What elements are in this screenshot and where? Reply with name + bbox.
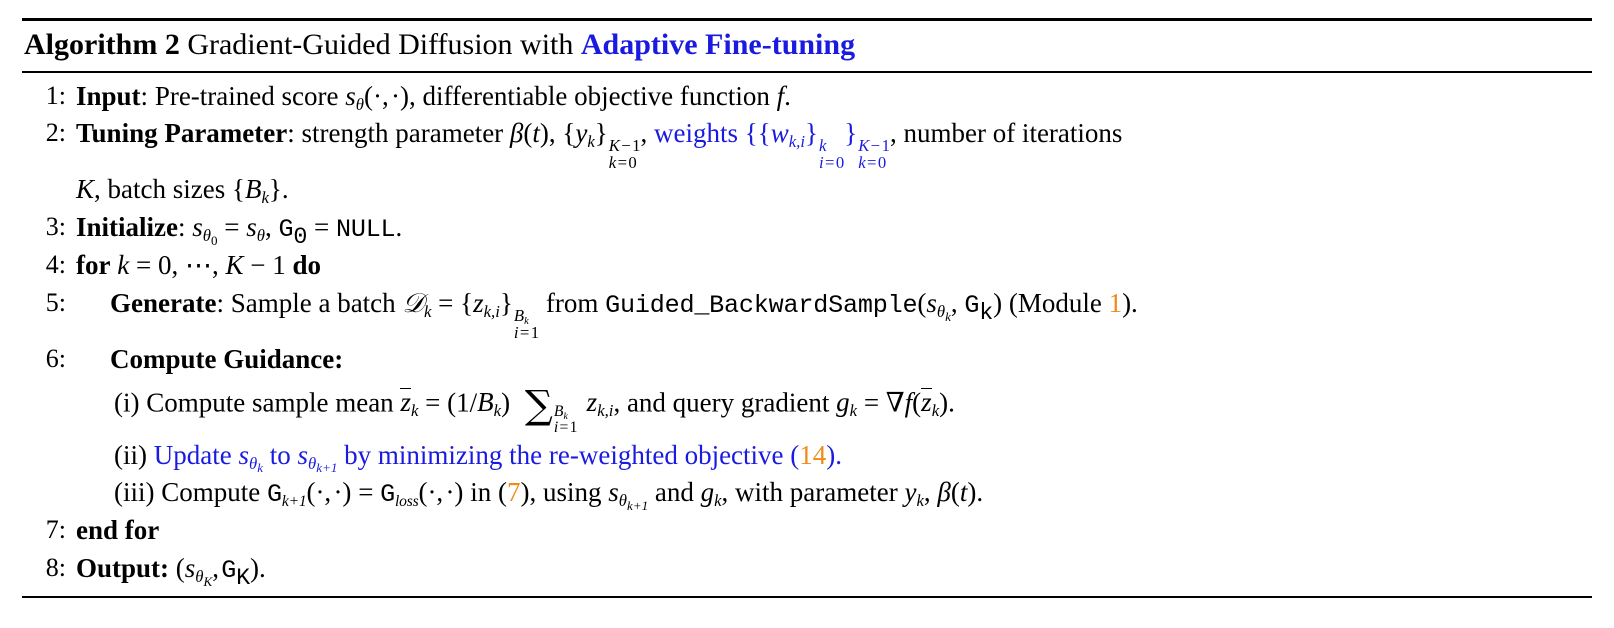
algorithm-line-3: 3: Initialize: sθ0 = sθ, G0 = NULL:. xyxy=(22,209,1592,247)
equals-iii: = xyxy=(358,477,373,507)
math-score-s: sθ xyxy=(345,81,364,111)
line-number-3: 3: xyxy=(22,209,76,245)
line-content-2-cont: K, batch sizes {Bk}. xyxy=(76,171,1592,209)
line-content-4: for k = 0, ⋯, K − 1 do xyxy=(76,247,1592,285)
substep-iii-ref-number: 7 xyxy=(507,477,521,507)
substep-i-pre: Compute sample mean xyxy=(146,387,393,417)
line-number-2: 2: xyxy=(22,115,76,151)
colon-1: : xyxy=(141,81,149,111)
algorithm-line-7: 7: end for xyxy=(22,512,1592,550)
substep-iii-ref-close: ), xyxy=(520,477,536,507)
algorithm-number: 2 xyxy=(165,28,180,61)
math-K: K xyxy=(76,174,94,204)
math-K-4: K xyxy=(225,250,243,280)
tuning-parameter-label: Tuning Parameter xyxy=(76,118,287,148)
substep-iii-end: . xyxy=(976,477,983,507)
line-number-6: 6: xyxy=(22,341,76,377)
line-content-6: Compute Guidance: xyxy=(76,341,1592,379)
for-keyword: for xyxy=(76,250,110,280)
substep-iii-with: , with parameter xyxy=(722,477,898,507)
math-G-loss: Gloss xyxy=(380,480,418,509)
substep-iii-and: and xyxy=(655,477,694,507)
substep-ii-by: by minimizing the re-weighted objective xyxy=(344,440,783,470)
tuning-text-pre: strength parameter xyxy=(302,118,504,148)
null-token: NULL xyxy=(336,215,395,244)
algorithm-line-8: 8: Output: (sθK, GK). xyxy=(22,550,1592,588)
math-one: 1 xyxy=(272,250,286,280)
equals-i: = xyxy=(425,387,440,417)
math-batch-set: {Bk} xyxy=(232,174,282,204)
substep-i-end: . xyxy=(948,387,955,417)
algorithm-line-5: 5: Generate: Sample a batch 𝒟k = {zk,i}B… xyxy=(22,285,1592,341)
line-content-2: Tuning Parameter: strength parameter β(t… xyxy=(76,115,1592,171)
algorithm-block: Algorithm 2 Gradient-Guided Diffusion wi… xyxy=(22,18,1592,598)
math-f-arg: ( xyxy=(912,387,921,417)
math-output-tuple: (sθK, GK) xyxy=(176,553,259,583)
line-content-sub-iii: (iii) Compute Gk+1(·, ·) = Gloss(·, ·) i… xyxy=(76,474,1592,512)
math-z-ki: zk,i xyxy=(587,387,614,417)
math-G-loss-args: (·, ·) xyxy=(418,477,463,507)
nabla-icon: ∇ xyxy=(886,387,905,417)
line-content-3: Initialize: sθ0 = sθ, G0 = NULL:. xyxy=(76,209,1592,247)
line-content-sub-ii: (ii) Update sθk to sθk+1 by minimizing t… xyxy=(76,437,1592,475)
line-number-8: 8: xyxy=(22,550,76,586)
substep-iii-in: in xyxy=(470,477,491,507)
algorithm-body: 1: Input: Pre-trained score sθ(·, ·), di… xyxy=(22,73,1592,597)
generate-from: from xyxy=(546,288,598,318)
equals-5: = xyxy=(438,288,453,318)
substep-iii-ref-open: ( xyxy=(498,477,507,507)
substep-iii-marker: (iii) xyxy=(114,477,155,507)
math-one-over-Bk: (1/Bk) xyxy=(447,387,510,417)
math-s-theta-k1-ii: sθk+1 xyxy=(298,440,338,470)
algorithm-keyword: Algorithm xyxy=(24,28,157,61)
line-content-1: Input: Pre-trained score sθ(·, ·), diffe… xyxy=(76,78,1592,116)
equals-2: = xyxy=(314,212,329,242)
math-s-theta-k-ii: sθk xyxy=(238,440,263,470)
tuning-end: . xyxy=(282,174,289,204)
math-f-arg-close: ) xyxy=(939,387,948,417)
colon-5: : xyxy=(216,288,224,318)
math-zbar-k: zk xyxy=(400,387,418,417)
math-beta-arg-iii: ( xyxy=(951,477,960,507)
comma-after-y: , xyxy=(641,118,648,148)
input-text-post: , differentiable objective function xyxy=(409,81,770,111)
substep-ii-ref-close: ). xyxy=(826,440,842,470)
substep-i-marker: (i) xyxy=(114,387,139,417)
math-zero: 0, xyxy=(158,250,178,280)
algorithm-line-6: 6: Compute Guidance: xyxy=(22,341,1592,379)
generate-label: Generate xyxy=(110,288,216,318)
tuning-batch-sizes: , batch sizes xyxy=(94,174,225,204)
math-G-k: Gk xyxy=(964,291,993,320)
math-dot-args-1: (·, ·) xyxy=(364,81,409,111)
substep-iii-using: using xyxy=(543,477,602,507)
algorithm-title-plain: Gradient-Guided Diffusion with xyxy=(187,28,573,61)
line-content-5: Generate: Sample a batch 𝒟k = {zk,i}Bki … xyxy=(76,285,1592,341)
math-g-k-iii: gk xyxy=(701,477,722,507)
algorithm-line-4: 4: for k = 0, ⋯, K − 1 do xyxy=(22,247,1592,285)
math-s-theta-k1-iii: sθk+1 xyxy=(608,477,648,507)
comma-iii: , xyxy=(924,477,931,507)
do-keyword: do xyxy=(292,250,321,280)
output-label: Output: xyxy=(76,553,169,583)
algorithm-line-1: 1: Input: Pre-trained score sθ(·, ·), di… xyxy=(22,78,1592,116)
algorithm-line-2: 2: Tuning Parameter: strength parameter … xyxy=(22,115,1592,171)
input-text-pre: Pre-trained score xyxy=(155,81,339,111)
math-s-theta0: sθ0 xyxy=(192,212,217,242)
line-number-5: 5: xyxy=(22,285,76,321)
equals-1: = xyxy=(224,212,239,242)
end-for-keyword: end for xyxy=(76,515,159,545)
input-label: Input xyxy=(76,81,141,111)
math-beta-iii: β xyxy=(937,477,950,507)
equals-i2: = xyxy=(864,387,879,417)
math-g-k: gk xyxy=(836,387,857,417)
math-z-set: {zk,i}Bki = 1 xyxy=(460,288,539,318)
initialize-label: Initialize xyxy=(76,212,178,242)
algorithm-substep-ii: (ii) Update sθk to sθk+1 by minimizing t… xyxy=(22,437,1592,475)
math-G0: G0 xyxy=(279,215,308,244)
substep-ii-update: Update xyxy=(154,440,232,470)
math-weights-set: {{wk,i}ki = 0}K − 1k = 0 xyxy=(745,118,890,148)
comma-3: , xyxy=(265,212,272,242)
line-number-4: 4: xyxy=(22,247,76,283)
algorithm-title: Algorithm 2 Gradient-Guided Diffusion wi… xyxy=(22,21,1592,71)
math-dots: ⋯ xyxy=(185,250,212,280)
math-beta-close-iii: ) xyxy=(967,477,976,507)
compute-guidance-label: Compute Guidance: xyxy=(110,344,343,374)
line-content-8: Output: (sθK, GK). xyxy=(76,550,1592,588)
line-content-7: end for xyxy=(76,512,1592,550)
generate-text-pre: Sample a batch xyxy=(231,288,396,318)
math-y-k-iii: yk xyxy=(904,477,923,507)
colon-2: : xyxy=(287,118,295,148)
func-args-close: ) xyxy=(993,288,1002,318)
rule-bottom xyxy=(22,596,1592,598)
module-ref-close: ). xyxy=(1122,288,1138,318)
math-sum-op: ∑ xyxy=(525,379,553,434)
guided-backward-sample-func: Guided_BackwardSample xyxy=(605,291,917,320)
func-args-open: ( xyxy=(917,288,926,318)
tuning-num-iterations: , number of iterations xyxy=(890,118,1122,148)
minus-4: − xyxy=(250,250,265,280)
math-D-k: 𝒟k xyxy=(402,288,431,319)
substep-i-mid: , and query gradient xyxy=(613,387,829,417)
math-k-index: k xyxy=(117,250,129,280)
tuning-weights-label: weights xyxy=(654,118,738,148)
line-number-1: 1: xyxy=(22,78,76,114)
math-beta-close: ), xyxy=(540,118,556,148)
algorithm-title-accent: Adaptive Fine-tuning xyxy=(581,28,855,61)
comma-4: , xyxy=(212,250,219,280)
math-s-theta: sθ xyxy=(246,212,265,242)
algorithm-line-2-cont: K, batch sizes {Bk}. xyxy=(22,171,1592,209)
substep-iii-compute: Compute xyxy=(161,477,260,507)
algorithm-substep-i: (i) Compute sample mean zk = (1/Bk)∑Bki … xyxy=(22,379,1592,437)
colon-3: : xyxy=(178,212,186,242)
math-sum-limits: Bki = 1 xyxy=(554,404,578,437)
math-s-theta-k: sθk xyxy=(926,288,951,318)
substep-ii-marker: (ii) xyxy=(114,440,147,470)
module-ref-open: (Module xyxy=(1009,288,1102,318)
line-content-sub-i: (i) Compute sample mean zk = (1/Bk)∑Bki … xyxy=(76,379,1592,437)
math-f: f xyxy=(777,81,785,111)
math-t: t xyxy=(532,118,540,148)
math-beta-t: β xyxy=(510,118,523,148)
substep-ii-to: to xyxy=(270,440,291,470)
comma-5: , xyxy=(951,288,958,318)
line-number-7: 7: xyxy=(22,512,76,548)
substep-ii-ref-number: 14 xyxy=(799,440,826,470)
period-3b: . xyxy=(395,212,402,242)
math-y-set: {yk}K − 1k = 0 xyxy=(562,118,640,148)
math-G-k1-args: (·, ·) xyxy=(306,477,351,507)
input-text-end: . xyxy=(784,81,791,111)
substep-ii-ref-open: ( xyxy=(790,440,799,470)
algorithm-substep-iii: (iii) Compute Gk+1(·, ·) = Gloss(·, ·) i… xyxy=(22,474,1592,512)
math-zbar-k-2: zk xyxy=(921,387,939,417)
module-ref-number: 1 xyxy=(1109,288,1123,318)
math-G-k1: Gk+1 xyxy=(267,480,306,509)
equals-4: = xyxy=(136,250,151,280)
output-end: . xyxy=(259,553,266,583)
